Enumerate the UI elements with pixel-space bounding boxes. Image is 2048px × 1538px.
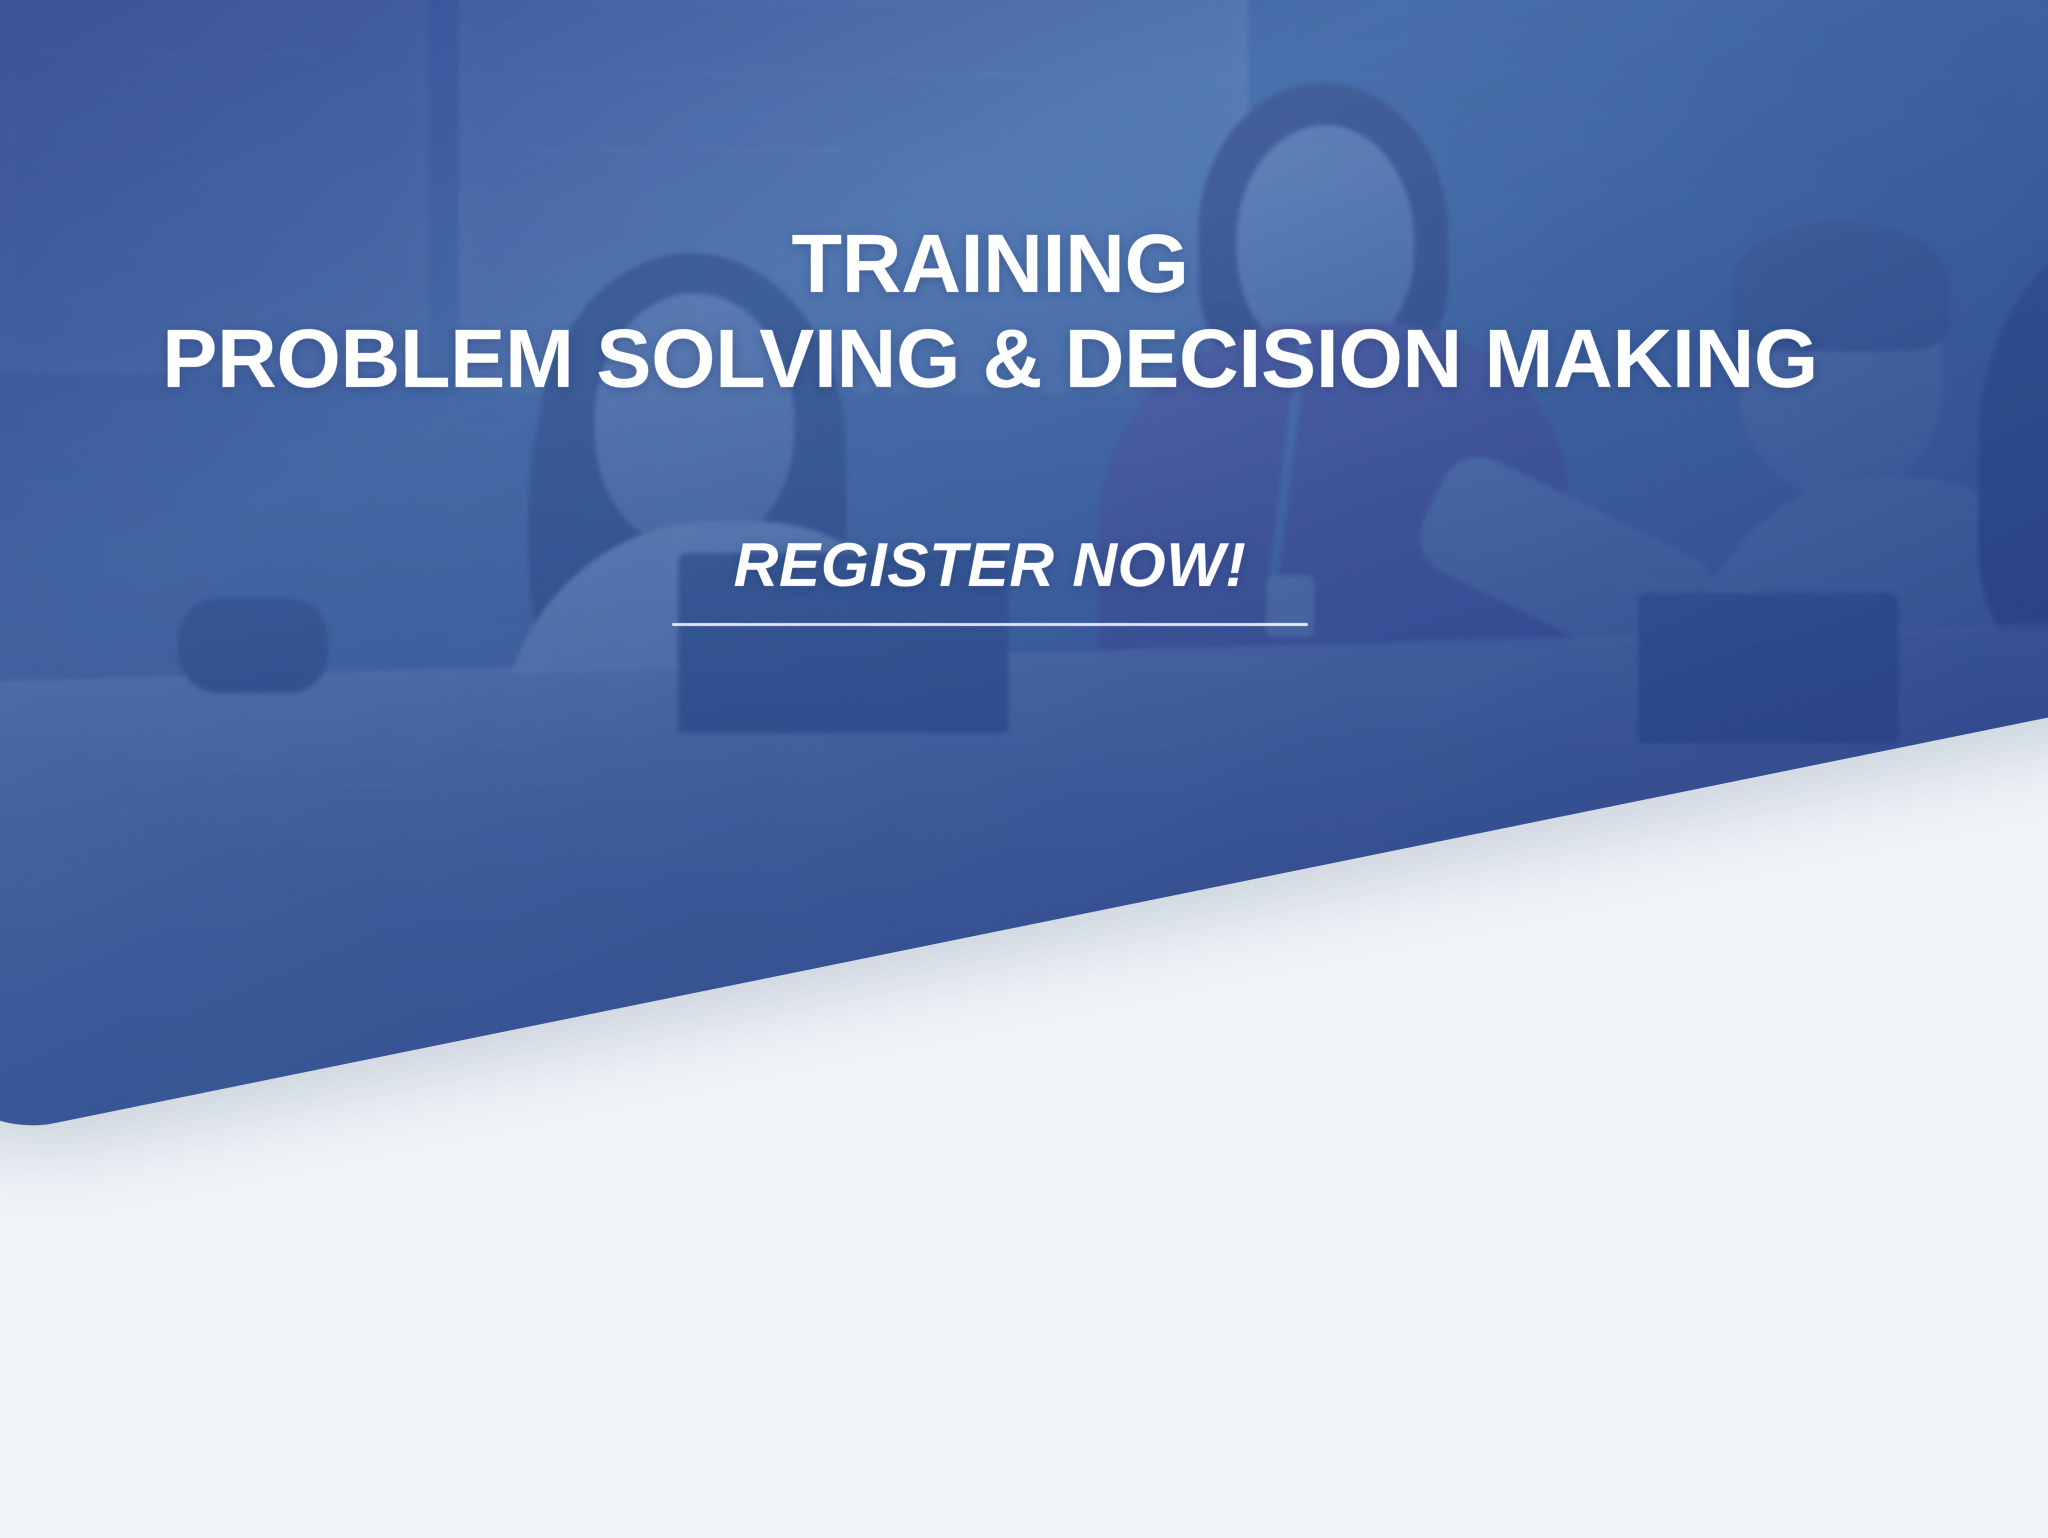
banner-stage: TRAINING PROBLEM SOLVING & DECISION MAKI… [0,0,2048,1538]
banner-card-surface: TRAINING PROBLEM SOLVING & DECISION MAKI… [0,0,2048,1147]
banner-headline-line-1: TRAINING [40,222,1940,305]
banner-headline-line-2: PROBLEM SOLVING & DECISION MAKING [40,317,1940,400]
cta-underline-rule [672,623,1308,626]
register-now-cta[interactable]: REGISTER NOW! [40,530,1940,601]
tilted-banner-card: TRAINING PROBLEM SOLVING & DECISION MAKI… [0,0,2048,1147]
